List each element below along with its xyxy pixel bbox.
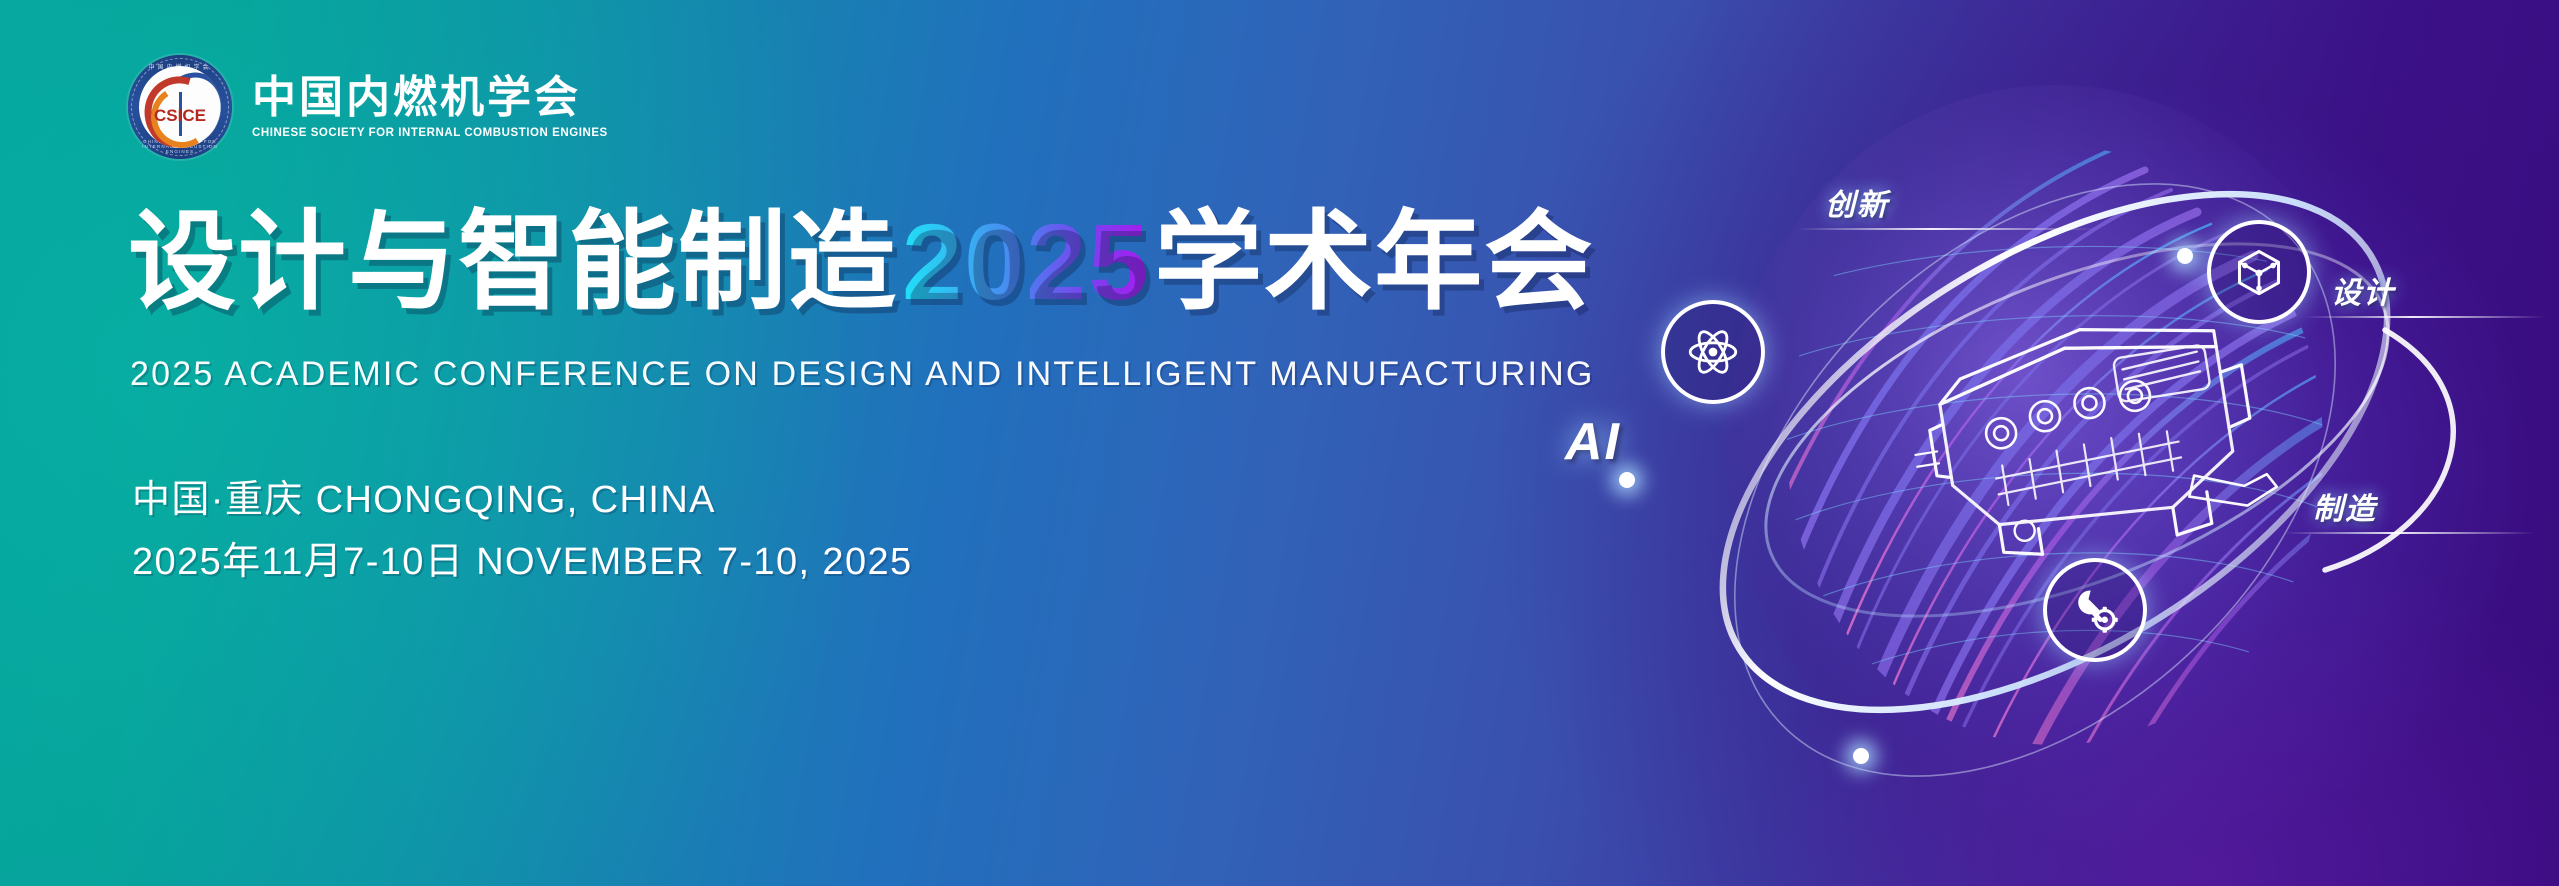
innovation-underline xyxy=(1797,228,2097,230)
conference-banner: 中国内燃机学会 CHINESE SOCIETY FOR INTERNAL COM… xyxy=(0,0,2559,886)
glow-spark xyxy=(1853,748,1869,764)
event-meta-block: 中国·重庆 CHONGQING, CHINA 2025年11月7-10日 NOV… xyxy=(132,470,913,593)
gear-wrench-icon xyxy=(2069,584,2121,636)
page-title: 设计与智能制造2025学术年会 xyxy=(128,205,1594,319)
title-year: 2025 xyxy=(898,201,1154,322)
cube-icon xyxy=(2233,246,2285,298)
emblem-inner-disc: CSICE xyxy=(139,66,221,148)
atom-icon xyxy=(1687,326,1739,378)
society-name-en: CHINESE SOCIETY FOR INTERNAL COMBUSTION … xyxy=(252,127,608,139)
ai-label: AI xyxy=(1565,412,1621,472)
event-dates: 2025年11月7-10日 NOVEMBER 7-10, 2025 xyxy=(132,532,913,594)
design-underline xyxy=(2305,316,2545,318)
title-part-one: 设计与智能制造 xyxy=(128,201,898,322)
emblem-mark-text: CSICE xyxy=(139,106,221,126)
society-name-cn: 中国内燃机学会 xyxy=(252,75,608,122)
label-manufacturing: 制造 xyxy=(2313,484,2377,528)
society-name-block: 中国内燃机学会 CHINESE SOCIETY FOR INTERNAL COM… xyxy=(252,75,608,140)
label-design: 设计 xyxy=(2331,268,2395,312)
glow-spark xyxy=(2177,248,2193,264)
manufacturing-underline xyxy=(2285,532,2535,534)
glow-spark xyxy=(1619,472,1635,488)
orbital-artwork: AI 创新 设计 xyxy=(1625,100,2555,830)
label-innovation: 创新 xyxy=(1825,180,1889,224)
title-part-two: 学术年会 xyxy=(1154,201,1594,322)
badge-design xyxy=(2207,220,2311,324)
society-logo-lockup: 中国内燃机学会 CHINESE SOCIETY FOR INTERNAL COM… xyxy=(128,55,608,159)
badge-manufacturing xyxy=(2043,558,2147,662)
badge-innovation xyxy=(1661,300,1765,404)
csice-emblem-icon: 中国内燃机学会 CHINESE SOCIETY FOR INTERNAL COM… xyxy=(128,55,232,159)
event-location: 中国·重庆 CHONGQING, CHINA xyxy=(132,470,913,532)
subtitle-english: 2025 ACADEMIC CONFERENCE ON DESIGN AND I… xyxy=(130,355,1595,394)
